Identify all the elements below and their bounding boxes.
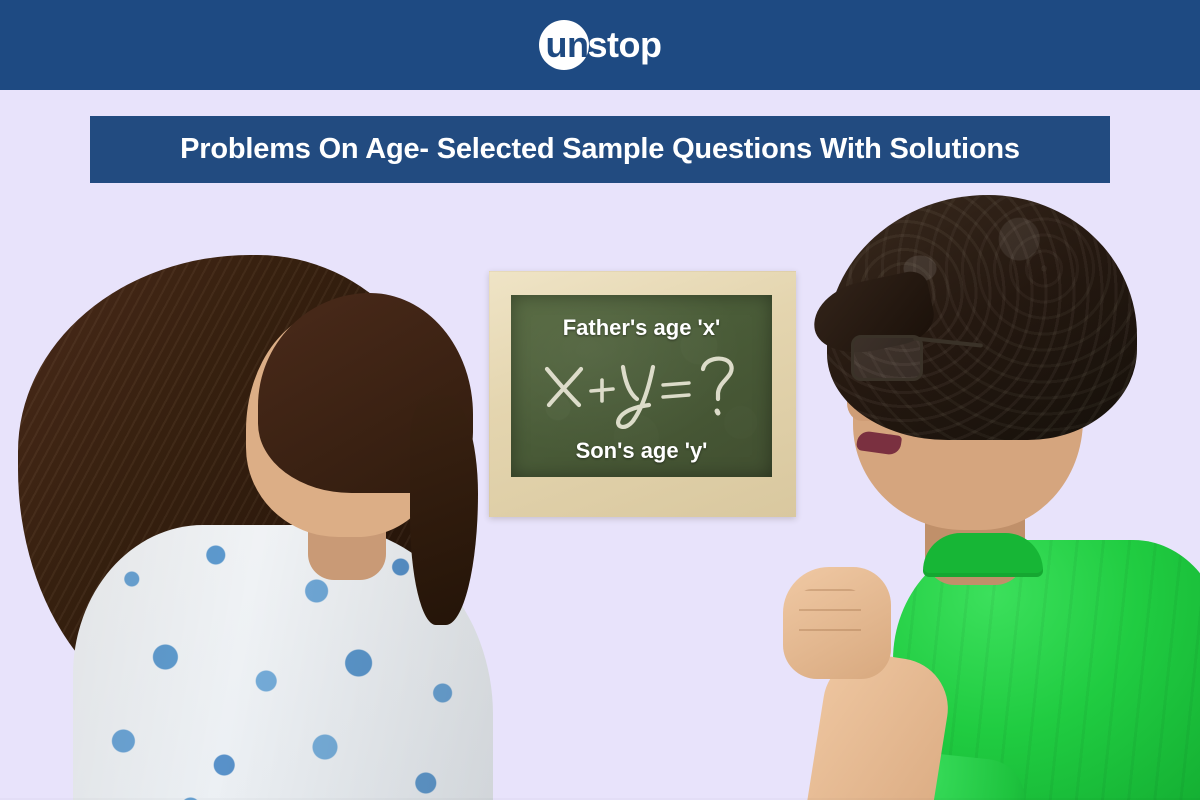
title-banner: Problems On Age- Selected Sample Questio…	[90, 116, 1110, 183]
boy-fist-finger-lines	[799, 589, 861, 645]
site-header: un stop	[0, 0, 1200, 90]
boy-raised-fist	[783, 567, 891, 679]
boy-tshirt-collar	[923, 533, 1043, 577]
page-title: Problems On Age- Selected Sample Questio…	[180, 133, 1020, 166]
logo-text-un: un	[539, 19, 589, 71]
chalkboard-top-label: Father's age 'x'	[511, 315, 772, 341]
chalkboard-surface: Father's age 'x'	[511, 295, 772, 477]
chalk-equation-icon	[537, 347, 747, 433]
chalkboard-bottom-label: Son's age 'y'	[511, 438, 772, 464]
chalkboard-chalk-equation	[511, 347, 772, 433]
woman-pointing	[18, 255, 558, 800]
boy-glasses-lens	[851, 335, 923, 381]
chalkboard: Father's age 'x'	[489, 271, 796, 517]
logo-text-stop: stop	[587, 19, 661, 71]
poster-canvas: un stop Problems On Age- Selected Sample…	[0, 0, 1200, 800]
unstop-logo[interactable]: un stop	[539, 19, 662, 71]
woman-hair-side-lock	[410, 395, 478, 625]
boy-with-glasses	[775, 185, 1200, 800]
